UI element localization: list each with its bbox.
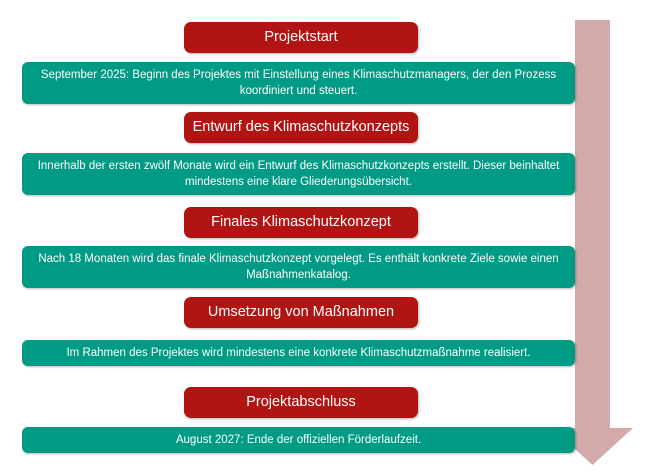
project-timeline-diagram: Projektstart September 2025: Beginn des …: [0, 0, 650, 474]
phase-description-projektstart: September 2025: Beginn des Projektes mit…: [22, 62, 575, 104]
phase-description-entwurf-klimaschutzkonzept: Innerhalb der ersten zwölf Monate wird e…: [22, 153, 575, 195]
phase-description-umsetzung-massnahmen: Im Rahmen des Projektes wird mindestens …: [22, 340, 575, 366]
phase-title-projektabschluss[interactable]: Projektabschluss: [184, 387, 418, 418]
phase-title-finales-klimaschutzkonzept[interactable]: Finales Klimaschutzkonzept: [184, 207, 418, 238]
phase-title-umsetzung-massnahmen[interactable]: Umsetzung von Maßnahmen: [184, 297, 418, 328]
phase-description-projektabschluss: August 2027: Ende der offiziellen Förder…: [22, 427, 575, 453]
phase-description-finales-klimaschutzkonzept: Nach 18 Monaten wird das finale Klimasch…: [22, 246, 575, 288]
phase-title-projektstart[interactable]: Projektstart: [184, 22, 418, 53]
phase-title-entwurf-klimaschutzkonzept[interactable]: Entwurf des Klimaschutzkonzepts: [184, 112, 418, 143]
